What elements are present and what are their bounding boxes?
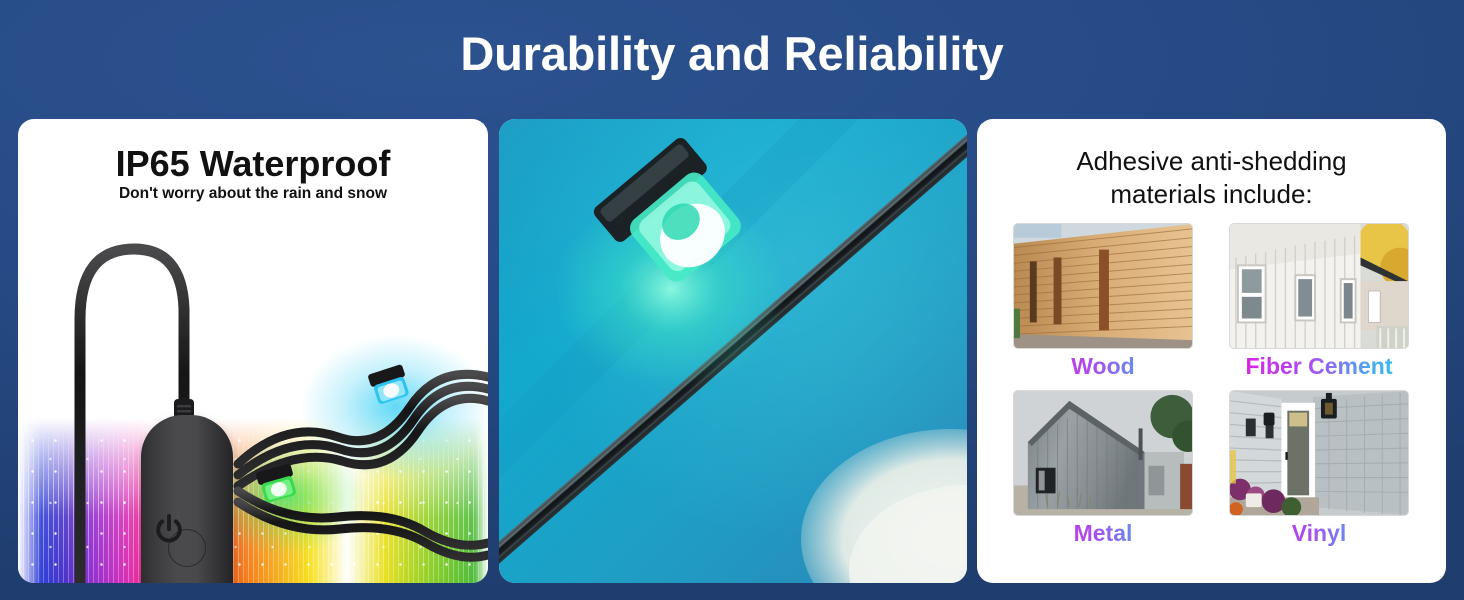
material-item-wood[interactable]: Wood [1013, 223, 1193, 380]
materials-heading-line1: Adhesive anti-shedding [1005, 145, 1418, 178]
materials-grid: Wood [1013, 223, 1413, 547]
panel-materials-heading: Adhesive anti-shedding materials include… [977, 145, 1446, 212]
power-icon [151, 512, 187, 548]
panel-materials: Adhesive anti-shedding materials include… [977, 119, 1446, 583]
thumbnail-metal [1013, 390, 1193, 516]
led-controller-box [141, 415, 233, 583]
led-macro-image [499, 119, 967, 583]
vinyl-shingle-siding-photo [1230, 391, 1408, 515]
thumbnail-wood [1013, 223, 1193, 349]
panel-waterproof-subheading: Don't worry about the rain and snow [18, 185, 488, 203]
power-button[interactable] [168, 529, 206, 567]
fiber-cement-siding-photo [1230, 224, 1408, 348]
material-item-vinyl[interactable]: Vinyl [1229, 390, 1409, 547]
metal-clad-building-photo [1014, 391, 1192, 515]
page-title: Durability and Reliability [0, 26, 1464, 81]
wood-siding-photo [1014, 224, 1192, 348]
material-label-wood: Wood [1013, 353, 1193, 380]
material-item-fiber-cement[interactable]: Fiber Cement [1229, 223, 1409, 380]
panel-waterproof-heading: IP65 Waterproof [18, 143, 488, 185]
panel-led-macro-photo [499, 119, 967, 583]
thumbnail-fiber-cement [1229, 223, 1409, 349]
promo-banner: Durability and Reliability [0, 0, 1464, 600]
thumbnail-vinyl [1229, 390, 1409, 516]
panel-waterproof: IP65 Waterproof Don't worry about the ra… [18, 119, 488, 583]
material-label-fiber-cement: Fiber Cement [1229, 353, 1409, 380]
materials-heading-line2: materials include: [1005, 178, 1418, 211]
material-label-vinyl: Vinyl [1229, 520, 1409, 547]
material-label-metal: Metal [1013, 520, 1193, 547]
material-item-metal[interactable]: Metal [1013, 390, 1193, 547]
